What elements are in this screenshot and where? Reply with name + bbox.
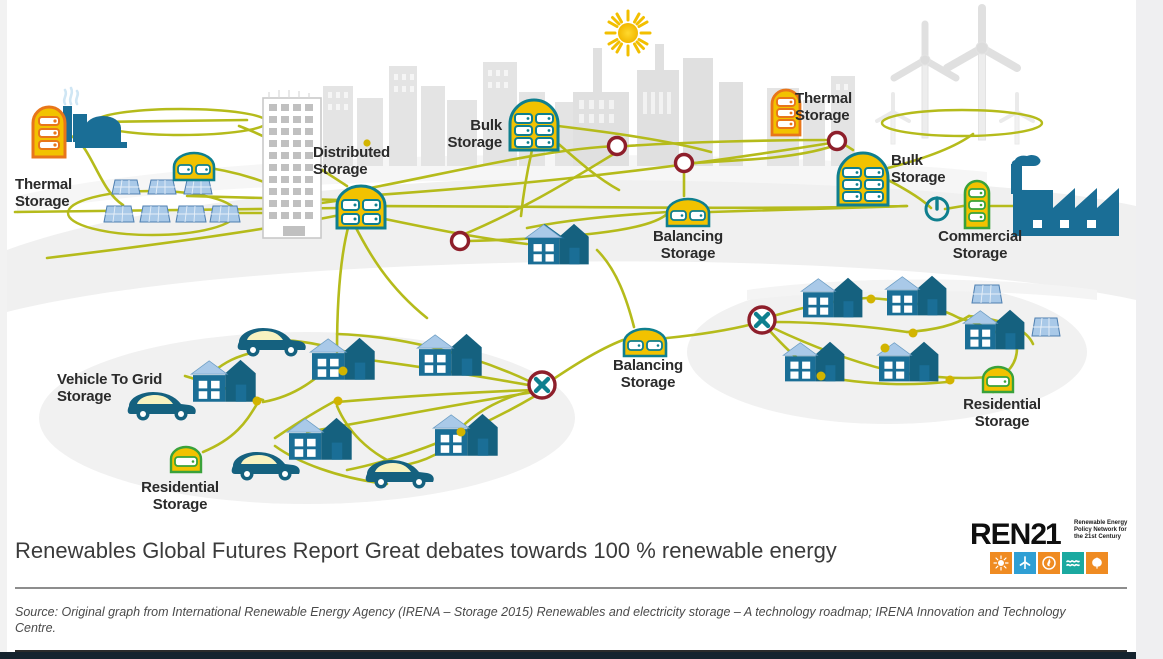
- node-ring-2[interactable]: [676, 155, 693, 172]
- wind-farm: [877, 8, 1033, 144]
- ren21-icon-tiles: [990, 552, 1108, 574]
- node-cross-1[interactable]: [529, 372, 555, 398]
- industrial-plant-icon: [63, 88, 127, 148]
- label-distributed-storage: Distributed Storage: [313, 144, 390, 178]
- node-ring-1[interactable]: [609, 138, 626, 155]
- energy-storage-diagram: Thermal Storage Distributed Storage Bulk…: [7, 0, 1136, 512]
- logo-tile-power: [1038, 552, 1060, 574]
- label-bulk-storage-city: Bulk Storage: [387, 117, 502, 151]
- ren21-wordmark: REN21: [970, 518, 1060, 552]
- label-vehicle-to-grid: Vehicle To Grid Storage: [57, 371, 162, 405]
- ren21-word-21: 21: [1030, 518, 1059, 551]
- label-thermal-storage-right: Thermal Storage: [795, 90, 852, 124]
- slide-canvas: Thermal Storage Distributed Storage Bulk…: [7, 0, 1136, 652]
- label-residential-left: Residential Storage: [125, 479, 235, 512]
- balancing-storage-city-icon[interactable]: [174, 153, 214, 180]
- source-note: Source: Original graph from Internationa…: [15, 604, 1105, 636]
- ren21-logo[interactable]: REN21 Renewable Energy Policy Network fo…: [970, 516, 1130, 578]
- right-margin-strip: [1136, 0, 1163, 659]
- label-thermal-storage-left: Thermal Storage: [15, 176, 72, 210]
- sun-icon: [993, 555, 1009, 571]
- left-margin-strip: [0, 0, 7, 659]
- label-residential-right: Residential Storage: [947, 396, 1057, 430]
- logo-tile-bio: [1086, 552, 1108, 574]
- balancing-storage-mid-icon[interactable]: [624, 329, 666, 356]
- ren21-tagline: Renewable Energy Policy Network for the …: [1074, 520, 1132, 542]
- balancing-storage-top-icon[interactable]: [667, 199, 709, 226]
- bulk-storage-city-icon[interactable]: [510, 100, 558, 150]
- label-commercial-storage: Commercial Storage: [925, 228, 1035, 262]
- distributed-storage-icon[interactable]: [337, 186, 385, 228]
- flame-icon: [1041, 555, 1057, 571]
- node-cross-2[interactable]: [749, 307, 775, 333]
- footer: Renewables Global Futures Report Great d…: [7, 512, 1136, 652]
- sun-icon: [606, 11, 650, 55]
- waves-icon: [1065, 555, 1081, 571]
- turbine-icon: [1017, 555, 1033, 571]
- screenshot-root: Thermal Storage Distributed Storage Bulk…: [0, 0, 1163, 659]
- bottom-bar: [0, 652, 1136, 659]
- node-ring-3[interactable]: [452, 233, 469, 250]
- leaf-icon: [1089, 555, 1105, 571]
- commercial-storage-icon[interactable]: [965, 181, 989, 228]
- residential-storage-left-icon[interactable]: [171, 447, 201, 472]
- label-balancing-storage-top: Balancing Storage: [637, 228, 739, 262]
- logo-tile-solar: [990, 552, 1012, 574]
- report-title: Renewables Global Futures Report Great d…: [15, 538, 837, 564]
- logo-tile-wind: [1014, 552, 1036, 574]
- footer-divider-top: [15, 587, 1127, 589]
- thermal-storage-left-icon[interactable]: [33, 107, 65, 157]
- residential-storage-right-icon[interactable]: [983, 367, 1013, 392]
- label-balancing-storage-mid: Balancing Storage: [597, 357, 699, 391]
- logo-tile-hydro: [1062, 552, 1084, 574]
- ren21-word-ren: REN: [970, 518, 1030, 551]
- bulk-storage-right-icon[interactable]: [838, 153, 888, 205]
- label-bulk-storage-right: Bulk Storage: [891, 152, 945, 186]
- node-ring-4[interactable]: [829, 133, 846, 150]
